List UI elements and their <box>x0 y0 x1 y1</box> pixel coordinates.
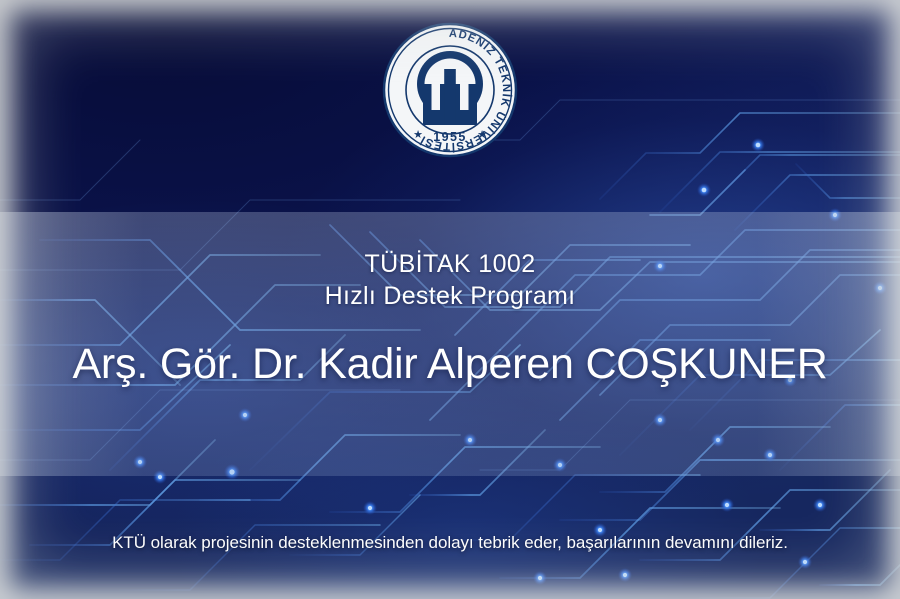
program-name: Hızlı Destek Programı <box>0 280 900 313</box>
congratulation-message: KTÜ olarak projesinin desteklenmesinden … <box>0 533 900 553</box>
program-code: TÜBİTAK 1002 <box>0 250 900 280</box>
seal-star-right-icon: ★ <box>477 129 487 141</box>
ktu-seal-icon: KARADENİZ TEKNİK ÜNİVERSİTESİ 1955 ★ ★ <box>382 22 518 158</box>
seal-year: 1955 <box>433 130 466 144</box>
seal-monogram <box>417 51 483 125</box>
congratulations-poster: KARADENİZ TEKNİK ÜNİVERSİTESİ 1955 ★ ★ T… <box>0 0 900 599</box>
seal-star-left-icon: ★ <box>413 129 423 141</box>
program-title-block: TÜBİTAK 1002 Hızlı Destek Programı <box>0 250 900 313</box>
university-logo: KARADENİZ TEKNİK ÜNİVERSİTESİ 1955 ★ ★ <box>382 22 518 158</box>
honoree-name: Arş. Gör. Dr. Kadir Alperen COŞKUNER <box>0 340 900 389</box>
